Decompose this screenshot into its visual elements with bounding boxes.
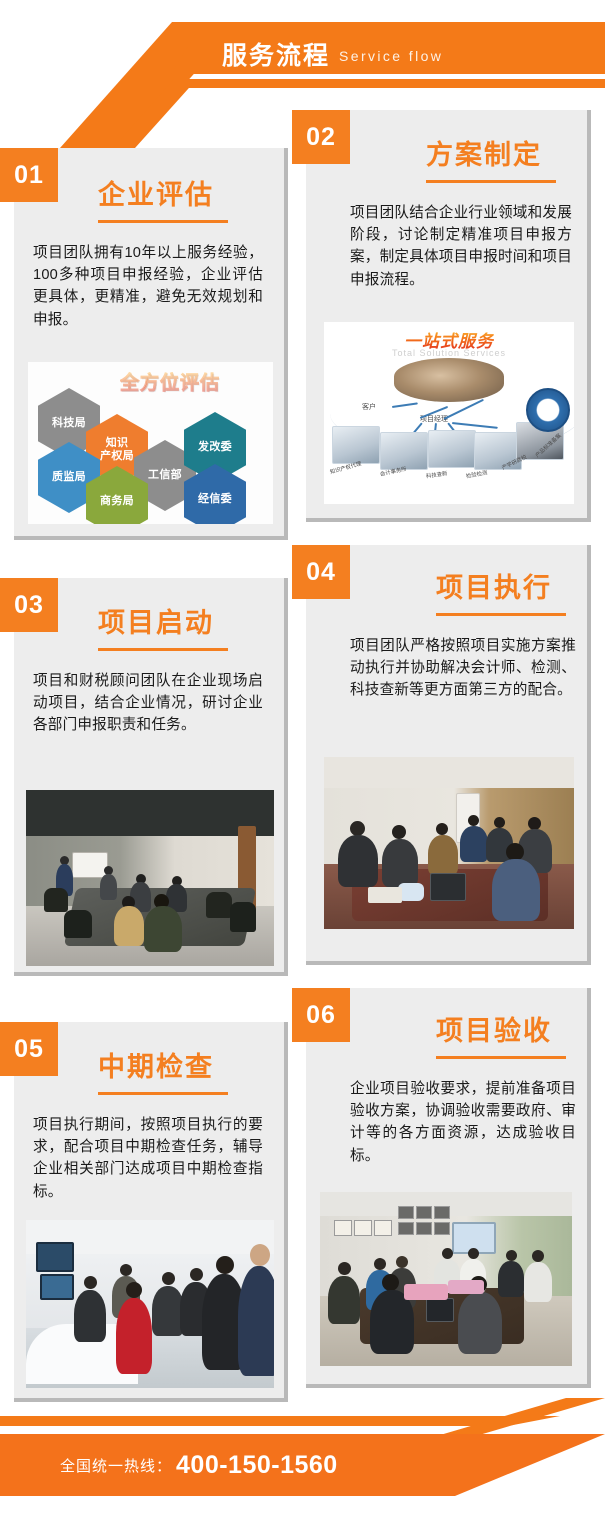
photo-person-body [100, 874, 117, 900]
photo-person-head [84, 1276, 97, 1289]
header-accent-line [150, 79, 605, 88]
photo-flowers [404, 1284, 448, 1300]
photo-certificate-frame [434, 1222, 450, 1235]
photo-ceiling [324, 757, 574, 791]
photo-person-head [532, 1250, 544, 1262]
card-title: 方案制定 [426, 142, 542, 169]
page-title-en: Service flow [339, 49, 443, 63]
photo-certificate-frame [398, 1206, 414, 1219]
photo-person-body [382, 839, 418, 887]
photo-person-head [506, 1250, 517, 1261]
photo-person-head [436, 823, 448, 835]
photo-person-head [190, 1268, 203, 1281]
photo-chair [64, 910, 92, 938]
photo-scene [324, 757, 574, 929]
page-footer: 全国统一热线： 400-150-1560 [0, 1398, 605, 1538]
hotline: 全国统一热线： 400-150-1560 [60, 1434, 338, 1496]
one-stop-node-label-4: 检验检测 [465, 468, 488, 480]
card-description: 项目团队拥有10年以上服务经验，100多种项目申报经验，企业评估更具体，更精准，… [33, 242, 263, 331]
photo-person-body [328, 1276, 360, 1324]
card-title: 项目启动 [98, 610, 214, 637]
card-description: 项目执行期间，按照项目执行的要求，配合项目中期检查任务，辅导企业相关部门达成项目… [33, 1114, 263, 1203]
photo-laptop [430, 873, 466, 901]
photo-whiteboard [72, 852, 108, 878]
title-underline [436, 613, 566, 616]
one-stop-hub-photo [394, 358, 504, 402]
photo-scene [320, 1192, 572, 1366]
card-title: 中期检查 [98, 1054, 214, 1081]
photo-certificate-frame [398, 1222, 414, 1235]
photo-person-head [442, 1248, 453, 1259]
title-underline [98, 1092, 228, 1095]
step-card-03[interactable]: 03 项目启动 项目和财税顾问团队在企业现场启动项目，结合企业情况，研讨企业各部… [14, 578, 288, 976]
photo-review-meeting [320, 1192, 572, 1366]
photo-certificate-frame [354, 1220, 372, 1236]
photo-person-head [374, 1258, 386, 1270]
photo-person-body [238, 1266, 274, 1376]
card-title: 项目执行 [436, 575, 552, 602]
photo-person-body [492, 859, 540, 921]
photo-certificate-frame [374, 1220, 392, 1236]
photo-person-head [338, 1262, 351, 1275]
photo-laptop [426, 1298, 454, 1322]
photo-certificate-frame [416, 1206, 432, 1219]
step-number-badge: 03 [0, 578, 58, 632]
hex-diagram: 全方位评估 科技局 知识 产权局 质监局 工信部 商务局 发改委 经信委 [28, 362, 273, 524]
page-title: 服务流程 Service flow [222, 35, 443, 77]
step-number-badge: 01 [0, 148, 58, 202]
photo-person-head [468, 1248, 479, 1259]
hex-diagram-media: 全方位评估 科技局 知识 产权局 质监局 工信部 商务局 发改委 经信委 [28, 362, 273, 524]
card-description: 项目团队严格按照项目实施方案推动执行并协助解决会计师、检测、科技查新等更方面第三… [350, 635, 576, 702]
step-card-01[interactable]: 01 企业评估 项目团队拥有10年以上服务经验，100多种项目申报经验，企业评估… [14, 148, 288, 540]
photo-person-head [468, 815, 479, 826]
one-stop-diagram: 一站式服务 Total Solution Services 客户 项目经理 知识… [324, 322, 574, 504]
one-stop-seal-icon [526, 388, 570, 432]
photo-flowers [448, 1280, 484, 1294]
photo-person-head [392, 825, 406, 839]
photo-person-head [120, 1264, 132, 1276]
card-title: 项目验收 [436, 1018, 552, 1045]
card-description: 项目和财税顾问团队在企业现场启动项目，结合企业情况，研讨企业各部门申报职责和任务… [33, 670, 263, 737]
photo-person-body [144, 906, 182, 952]
one-stop-node-label-3: 科技查新 [425, 469, 447, 480]
photo-person-body-red-coat [116, 1298, 152, 1374]
one-stop-node-3 [428, 430, 476, 468]
photo-scene [26, 790, 274, 966]
photo-person-body [428, 835, 458, 875]
photo-person-head [250, 1244, 270, 1266]
hex-diagram-title: 全方位评估 [120, 368, 220, 395]
photo-chair [206, 892, 232, 918]
step-card-05[interactable]: 05 中期检查 项目执行期间，按照项目执行的要求，配合项目中期检查任务，辅导企业… [14, 1022, 288, 1402]
card-title: 企业评估 [98, 182, 214, 209]
photo-person-body [74, 1290, 106, 1342]
photo-chair [44, 888, 68, 912]
photo-certificate-frame [416, 1222, 432, 1235]
card-description: 企业项目验收要求，提前准备项目验收方案，协调验收需要政府、审计等的各方面资源，达… [350, 1078, 576, 1167]
photo-site-visit [26, 1220, 274, 1388]
step-number-badge: 05 [0, 1022, 58, 1076]
photo-papers [368, 887, 402, 903]
one-stop-label-customer: 客户 [362, 402, 376, 412]
photo-chair [230, 902, 256, 932]
photo-person-body [498, 1261, 524, 1297]
photo-display-screen [40, 1274, 74, 1300]
one-stop-node-1 [332, 426, 380, 464]
one-stop-subtitle: Total Solution Services [392, 348, 506, 358]
step-number-badge: 06 [292, 988, 350, 1042]
photo-person-body [460, 826, 488, 862]
step-card-04[interactable]: 04 项目执行 项目团队严格按照项目实施方案推动执行并协助解决会计师、检测、科技… [306, 545, 591, 965]
photo-person-body [458, 1292, 502, 1354]
photo-person-head [126, 1282, 142, 1298]
step-number-badge: 04 [292, 545, 350, 599]
photo-meeting-room [26, 790, 274, 966]
photo-person-head [494, 817, 505, 828]
title-underline [98, 648, 228, 651]
step-card-06[interactable]: 06 项目验收 企业项目验收要求，提前准备项目验收方案，协调验收需要政府、审计等… [306, 988, 591, 1388]
title-underline [426, 180, 556, 183]
one-stop-diagram-media: 一站式服务 Total Solution Services 客户 项目经理 知识… [324, 322, 574, 504]
photo-person-body [338, 835, 378, 887]
photo-person-head [396, 1256, 408, 1268]
photo-working-session [324, 757, 574, 929]
photo-person-head [382, 1274, 399, 1291]
photo-person-body [114, 906, 144, 946]
title-underline [436, 1056, 566, 1059]
hotline-label: 全国统一热线： [60, 1455, 172, 1476]
step-card-02[interactable]: 02 方案制定 项目团队结合企业行业领域和发展阶段，讨论制定精准项目申报方案，制… [306, 110, 591, 522]
photo-display-screen [36, 1242, 74, 1272]
photo-person-body [524, 1262, 552, 1302]
step-number-badge: 02 [292, 110, 350, 164]
photo-scene [26, 1220, 274, 1388]
photo-certificate-frame [334, 1220, 352, 1236]
hotline-number[interactable]: 400-150-1560 [176, 1451, 338, 1480]
photo-person-head [216, 1256, 234, 1274]
card-description: 项目团队结合企业行业领域和发展阶段，讨论制定精准项目申报方案，制定具体项目申报时… [350, 202, 572, 291]
photo-person-head [350, 821, 365, 836]
title-underline [98, 220, 228, 223]
photo-person-head [162, 1272, 175, 1285]
photo-certificate-frame [434, 1206, 450, 1219]
page-title-cn: 服务流程 [222, 44, 330, 69]
